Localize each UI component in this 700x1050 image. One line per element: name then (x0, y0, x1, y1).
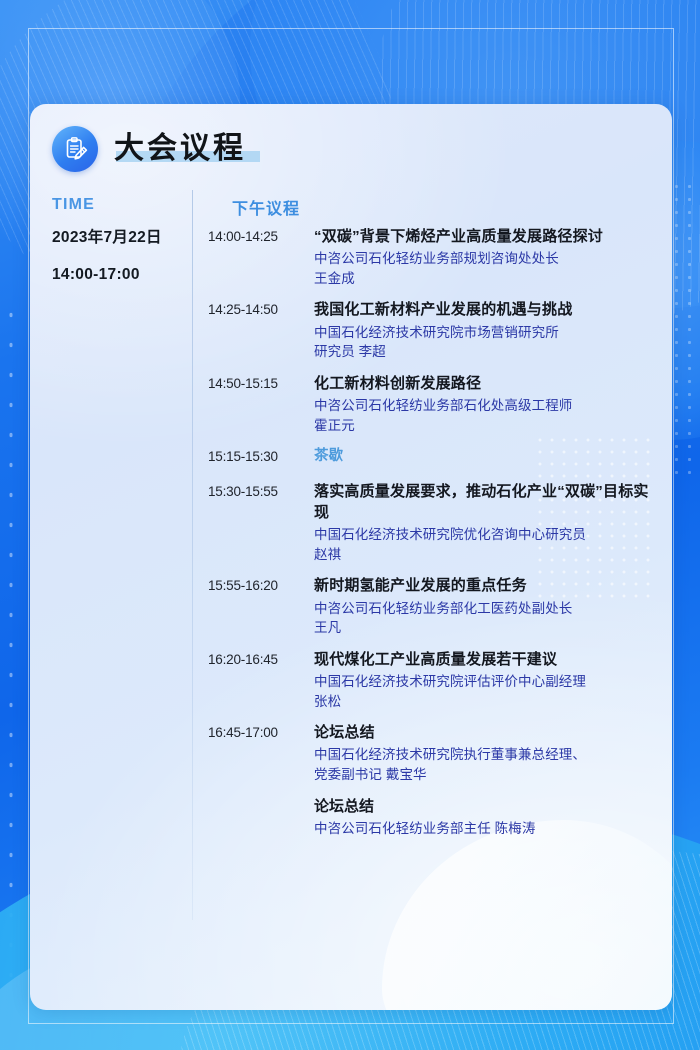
agenda-time-slot: 16:45-17:00 (208, 722, 304, 743)
page-title: 大会议程 (114, 131, 246, 166)
agenda-session-speaker: 中国石化经济技术研究院市场营销研究所研究员 李超 (314, 323, 656, 362)
agenda-session-speaker: 中咨公司石化轻纺业务部石化处高级工程师霍正元 (314, 396, 656, 435)
agenda-row: 14:50-15:15化工新材料创新发展路径中咨公司石化轻纺业务部石化处高级工程… (208, 373, 656, 435)
agenda-row-body: 论坛总结中国石化经济技术研究院执行董事兼总经理、党委副书记 戴宝华 (304, 722, 656, 784)
agenda-card: 大会议程 TIME 下午议程 2023年7月22日 14:00-17:00 14… (30, 104, 672, 1010)
event-date: 2023年7月22日 (52, 230, 192, 246)
agenda-row-body: 论坛总结中咨公司石化轻纺业务部主任 陈梅涛 (304, 796, 656, 839)
agenda-row-body: 我国化工新材料产业发展的机遇与挑战中国石化经济技术研究院市场营销研究所研究员 李… (304, 299, 656, 361)
agenda-row: 15:55-16:20新时期氢能产业发展的重点任务中咨公司石化轻纺业务部化工医药… (208, 575, 656, 637)
agenda-session-title: 论坛总结 (314, 796, 656, 818)
column-header-time: TIME (52, 196, 95, 214)
agenda-time-slot: 14:50-15:15 (208, 373, 304, 394)
agenda-row: 16:45-17:00论坛总结中国石化经济技术研究院执行董事兼总经理、党委副书记… (208, 722, 656, 784)
agenda-session-speaker: 中咨公司石化轻纺业务部规划咨询处处长王金成 (314, 249, 656, 288)
agenda-session-title: “双碳”背景下烯烃产业高质量发展路径探讨 (314, 226, 656, 247)
event-time-range: 14:00-17:00 (52, 267, 192, 283)
agenda-session-title: 落实高质量发展要求，推动石化产业“双碳”目标实现 (314, 481, 656, 524)
agenda-session-speaker: 中咨公司石化轻纺业务部化工医药处副处长王凡 (314, 599, 656, 638)
column-header-agenda: 下午议程 (232, 195, 300, 219)
page-title-wrap: 大会议程 (114, 134, 246, 164)
agenda-session-speaker: 中国石化经济技术研究院优化咨询中心研究员赵祺 (314, 525, 656, 564)
agenda-session-title: 论坛总结 (314, 722, 656, 743)
agenda-row-body: 茶歇 (304, 446, 656, 466)
agenda-time-slot: 14:25-14:50 (208, 299, 304, 320)
agenda-session-title: 我国化工新材料产业发展的机遇与挑战 (314, 299, 656, 320)
card-header: 大会议程 (52, 126, 246, 172)
agenda-row: 论坛总结中咨公司石化轻纺业务部主任 陈梅涛 (208, 796, 656, 839)
agenda-row: 14:00-14:25“双碳”背景下烯烃产业高质量发展路径探讨中咨公司石化轻纺业… (208, 226, 656, 288)
agenda-list: 14:00-14:25“双碳”背景下烯烃产业高质量发展路径探讨中咨公司石化轻纺业… (208, 226, 656, 850)
column-headers: TIME 下午议程 (52, 196, 650, 220)
agenda-row: 16:20-16:45现代煤化工产业高质量发展若干建议中国石化经济技术研究院评估… (208, 649, 656, 711)
agenda-time-slot: 15:15-15:30 (208, 446, 304, 467)
agenda-session-speaker: 中国石化经济技术研究院执行董事兼总经理、党委副书记 戴宝华 (314, 745, 656, 784)
agenda-row-body: 落实高质量发展要求，推动石化产业“双碳”目标实现中国石化经济技术研究院优化咨询中… (304, 481, 656, 565)
agenda-break-label: 茶歇 (314, 446, 656, 466)
agenda-session-speaker: 中咨公司石化轻纺业务部主任 陈梅涛 (314, 819, 656, 839)
agenda-break-row: 15:15-15:30茶歇 (208, 446, 656, 467)
agenda-session-title: 新时期氢能产业发展的重点任务 (314, 575, 656, 596)
agenda-time-slot: 14:00-14:25 (208, 226, 304, 247)
agenda-time-slot: 16:20-16:45 (208, 649, 304, 670)
agenda-session-title: 现代煤化工产业高质量发展若干建议 (314, 649, 656, 670)
agenda-row-body: 现代煤化工产业高质量发展若干建议中国石化经济技术研究院评估评价中心副经理张松 (304, 649, 656, 711)
column-divider (192, 190, 193, 920)
agenda-time-slot: 15:30-15:55 (208, 481, 304, 502)
agenda-row: 15:30-15:55落实高质量发展要求，推动石化产业“双碳”目标实现中国石化经… (208, 481, 656, 565)
agenda-poster: 大会议程 TIME 下午议程 2023年7月22日 14:00-17:00 14… (0, 0, 700, 1050)
agenda-row-body: 化工新材料创新发展路径中咨公司石化轻纺业务部石化处高级工程师霍正元 (304, 373, 656, 435)
agenda-row: 14:25-14:50我国化工新材料产业发展的机遇与挑战中国石化经济技术研究院市… (208, 299, 656, 361)
agenda-row-body: “双碳”背景下烯烃产业高质量发展路径探讨中咨公司石化轻纺业务部规划咨询处处长王金… (304, 226, 656, 288)
agenda-session-title: 化工新材料创新发展路径 (314, 373, 656, 394)
agenda-time-slot (208, 796, 304, 797)
agenda-session-speaker: 中国石化经济技术研究院评估评价中心副经理张松 (314, 672, 656, 711)
event-time-block: 2023年7月22日 14:00-17:00 (52, 230, 192, 282)
clipboard-pencil-icon (52, 126, 98, 172)
agenda-time-slot: 15:55-16:20 (208, 575, 304, 596)
agenda-row-body: 新时期氢能产业发展的重点任务中咨公司石化轻纺业务部化工医药处副处长王凡 (304, 575, 656, 637)
